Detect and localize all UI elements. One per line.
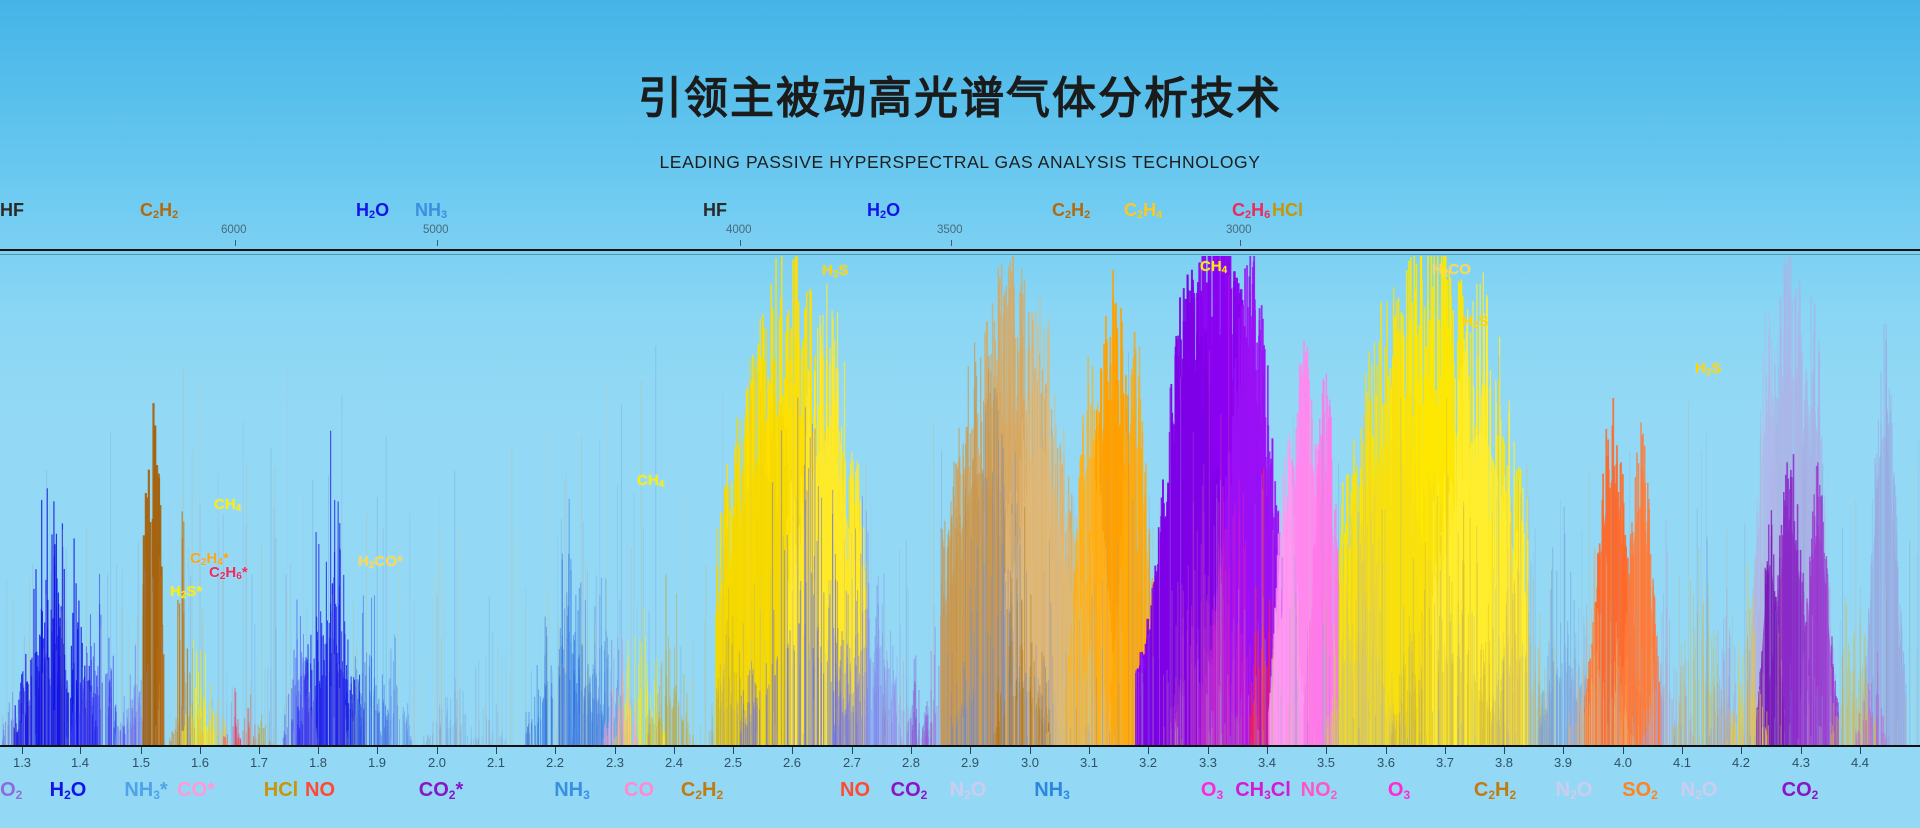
bottom-gas-label: CO2* [419, 779, 463, 802]
plot-gas-label: H2S [1695, 360, 1721, 378]
page-subtitle: LEADING PASSIVE HYPERSPECTRAL GAS ANALYS… [0, 152, 1920, 173]
spectrum-plot: H2SCH4H2COH2SH2SCH4CH4C2H4*C2H6*H2S*H2CO… [0, 256, 1920, 745]
bottom-axis-tick-label: 4.2 [1732, 755, 1750, 770]
bottom-axis-tick-mark [259, 747, 260, 754]
bottom-axis-tick-label: 4.4 [1851, 755, 1869, 770]
top-axis-tick-mark [437, 240, 438, 246]
bottom-axis-tick-label: 1.6 [191, 755, 209, 770]
bottom-gas-label: CO2 [891, 779, 928, 802]
bottom-gas-label: C2H2 [681, 779, 723, 802]
bottom-axis-tick-label: 2.1 [487, 755, 505, 770]
bottom-axis-tick-mark [792, 747, 793, 754]
bottom-gas-label: N2O [1556, 779, 1593, 802]
top-axis-tick-label: 5000 [423, 224, 449, 236]
bottom-gas-label: O3 [1201, 779, 1223, 802]
bottom-axis-tick-label: 3.6 [1377, 755, 1395, 770]
top-axis-tick-label: 4000 [726, 224, 752, 236]
bottom-axis-tick-mark [733, 747, 734, 754]
bottom-gas-label: NO [305, 779, 335, 802]
bottom-axis-tick-mark [80, 747, 81, 754]
bottom-axis-tick-mark [1801, 747, 1802, 754]
bottom-gas-label: CO* [177, 779, 215, 802]
plot-gas-label: H2S* [170, 583, 202, 601]
plot-top-axis-line-secondary [0, 254, 1920, 255]
bottom-gas-label: CH3Cl [1235, 779, 1291, 802]
bottom-axis-tick-mark [200, 747, 201, 754]
plot-gas-label: CH4 [214, 496, 241, 514]
bottom-gas-label: NO2 [1301, 779, 1338, 802]
top-axis-tick-label: 3500 [937, 224, 963, 236]
bottom-axis-tick-mark [615, 747, 616, 754]
top-axis-tick-mark [1240, 240, 1241, 246]
plot-top-axis-line [0, 249, 1920, 251]
bottom-gas-label: CO2 [1782, 779, 1819, 802]
bottom-axis-tick-mark [496, 747, 497, 754]
bottom-axis-tick-mark [1682, 747, 1683, 754]
bottom-gas-label: NH3 [554, 779, 590, 802]
bottom-gas-label: CO [624, 779, 654, 802]
bottom-gas-label: NH3 [1034, 779, 1070, 802]
bottom-axis-tick-mark [1030, 747, 1031, 754]
bottom-axis-tick-label: 3.3 [1199, 755, 1217, 770]
bottom-axis-tick-label: 3.8 [1495, 755, 1513, 770]
bottom-axis-tick-label: 4.3 [1792, 755, 1810, 770]
bottom-axis-tick-label: 3.2 [1139, 755, 1157, 770]
bottom-axis-tick-label: 3.5 [1317, 755, 1335, 770]
bottom-axis-tick-label: 1.5 [132, 755, 150, 770]
bottom-axis-tick-mark [1326, 747, 1327, 754]
bottom-axis-tick-mark [1386, 747, 1387, 754]
top-axis-tick-label: 6000 [221, 224, 247, 236]
bottom-axis-tick-label: 3.7 [1436, 755, 1454, 770]
top-label-band: HFC2H2H2ONH3HFH2OC2H2C2H4C2H6HCl60005000… [0, 200, 1920, 250]
bottom-gas-label: O3 [1388, 779, 1410, 802]
bottom-axis-tick-mark [377, 747, 378, 754]
plot-gas-label: CH4 [637, 472, 664, 490]
top-gas-label: H2O [867, 200, 900, 221]
spectrum-canvas [0, 256, 1920, 745]
bottom-gas-label: HCl [264, 779, 298, 802]
bottom-axis-tick-label: 1.8 [309, 755, 327, 770]
bottom-axis-tick-label: 2.2 [546, 755, 564, 770]
plot-gas-label: C2H6* [209, 564, 248, 582]
top-gas-label: C2H2 [140, 200, 178, 221]
bottom-axis-tick-label: 2.5 [724, 755, 742, 770]
bottom-gas-label: N2O [950, 779, 987, 802]
top-gas-label: H2O [356, 200, 389, 221]
bottom-axis-tick-mark [911, 747, 912, 754]
bottom-gas-label: H2O [50, 779, 87, 802]
bottom-gas-label: SO2 [1622, 779, 1658, 802]
bottom-axis-tick-label: 4.0 [1614, 755, 1632, 770]
top-gas-label: C2H6 [1232, 200, 1270, 221]
bottom-axis-tick-mark [1267, 747, 1268, 754]
bottom-axis-tick-mark [22, 747, 23, 754]
top-gas-label: NH3 [415, 200, 447, 221]
bottom-axis-tick-mark [1445, 747, 1446, 754]
plot-gas-label: CH4 [1200, 258, 1227, 276]
bottom-axis-tick-mark [555, 747, 556, 754]
bottom-axis-tick-label: 3.0 [1021, 755, 1039, 770]
bottom-gas-label: N2O [1681, 779, 1718, 802]
bottom-axis-tick-mark [970, 747, 971, 754]
bottom-axis-tick-label: 2.3 [606, 755, 624, 770]
top-axis-tick-mark [740, 240, 741, 246]
bottom-axis-tick-mark [1860, 747, 1861, 754]
bottom-axis-tick-label: 2.8 [902, 755, 920, 770]
bottom-axis-tick-label: 2.6 [783, 755, 801, 770]
bottom-axis-tick-mark [141, 747, 142, 754]
bottom-axis-tick-mark [1563, 747, 1564, 754]
plot-gas-label: H2CO* [358, 553, 403, 571]
bottom-axis-tick-label: 2.4 [665, 755, 683, 770]
bottom-axis-tick-mark [437, 747, 438, 754]
bottom-axis-tick-mark [1623, 747, 1624, 754]
bottom-axis-tick-mark [1504, 747, 1505, 754]
bottom-axis-tick-label: 1.7 [250, 755, 268, 770]
poster-header: 引领主被动高光谱气体分析技术 LEADING PASSIVE HYPERSPEC… [0, 0, 1920, 200]
plot-gas-label: H2S [822, 262, 848, 280]
bottom-axis-tick-mark [1089, 747, 1090, 754]
page-title: 引领主被动高光谱气体分析技术 [0, 62, 1920, 126]
bottom-axis-tick-mark [1208, 747, 1209, 754]
bottom-gas-label: NO [840, 779, 870, 802]
bottom-axis-tick-mark [852, 747, 853, 754]
top-gas-label: HF [0, 200, 24, 221]
bottom-axis-tick-label: 3.1 [1080, 755, 1098, 770]
bottom-axis-tick-label: 2.0 [428, 755, 446, 770]
bottom-gas-label: NH3* [124, 779, 167, 802]
bottom-axis-tick-label: 2.7 [843, 755, 861, 770]
bottom-gas-label: C2H2 [1474, 779, 1516, 802]
bottom-axis-tick-label: 1.3 [13, 755, 31, 770]
bottom-axis-tick-label: 4.1 [1673, 755, 1691, 770]
top-gas-label: C2H2 [1052, 200, 1090, 221]
top-axis-tick-mark [951, 240, 952, 246]
bottom-axis-tick-mark [318, 747, 319, 754]
bottom-axis-tick-mark [1148, 747, 1149, 754]
bottom-axis-tick-label: 2.9 [961, 755, 979, 770]
bottom-axis-tick-label: 3.4 [1258, 755, 1276, 770]
plot-gas-label: H2S [1462, 313, 1488, 331]
bottom-axis-tick-mark [674, 747, 675, 754]
bottom-gas-label: CO2 [0, 779, 22, 802]
top-axis-tick-label: 3000 [1226, 224, 1252, 236]
plot-gas-label: H2CO [1432, 261, 1471, 279]
top-gas-label: C2H4 [1124, 200, 1162, 221]
top-gas-label: HCl [1272, 200, 1303, 221]
bottom-axis-tick-mark [1741, 747, 1742, 754]
bottom-axis-tick-label: 3.9 [1554, 755, 1572, 770]
spectrum-poster: 引领主被动高光谱气体分析技术 LEADING PASSIVE HYPERSPEC… [0, 0, 1920, 828]
top-gas-label: HF [703, 200, 727, 221]
bottom-axis-tick-label: 1.4 [71, 755, 89, 770]
bottom-axis-tick-label: 1.9 [368, 755, 386, 770]
top-axis-tick-mark [235, 240, 236, 246]
bottom-axis-band: 1.31.41.51.61.71.81.92.02.12.22.32.42.52… [0, 747, 1920, 828]
